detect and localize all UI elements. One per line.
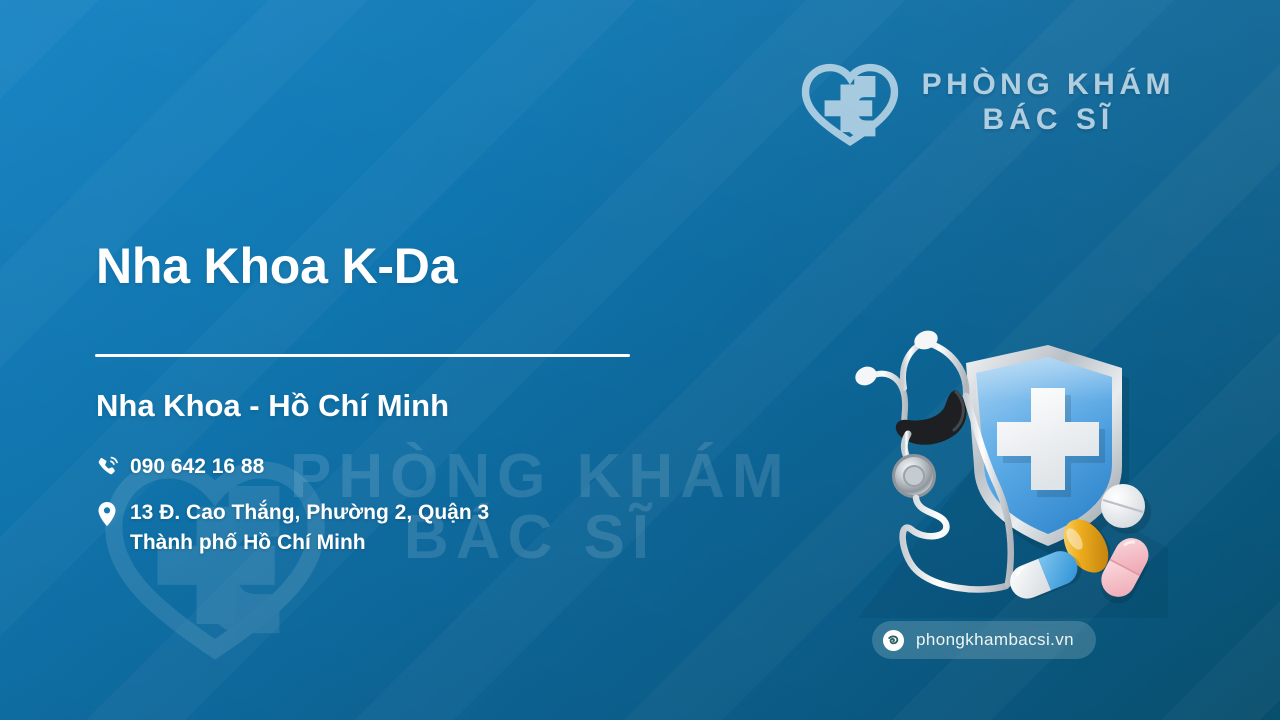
address: 13 Đ. Cao Thắng, Phường 2, Quận 3 Thành …: [130, 498, 489, 558]
heart-cross-logo-icon: [794, 58, 906, 148]
address-line-2: Thành phố Hồ Chí Minh: [130, 528, 489, 558]
map-pin-icon: [96, 498, 130, 527]
clinic-name: Nha Khoa K-Da: [96, 237, 457, 295]
clinic-category-location: Nha Khoa - Hồ Chí Minh: [96, 388, 449, 424]
brand-line-1: PHÒNG KHÁM: [922, 68, 1175, 101]
website-badge[interactable]: phongkhambacsi.vn: [872, 621, 1096, 659]
globe-icon: [882, 629, 905, 652]
phone-call-icon: [96, 452, 130, 479]
phone-number: 090 642 16 88: [130, 452, 264, 482]
brand-line-2: BÁC SĨ: [922, 105, 1175, 136]
website-url: phongkhambacsi.vn: [916, 630, 1074, 650]
address-row[interactable]: 13 Đ. Cao Thắng, Phường 2, Quận 3 Thành …: [96, 498, 716, 558]
contact-info: 090 642 16 88 13 Đ. Cao Thắng, Phường 2,…: [96, 452, 716, 573]
phone-row[interactable]: 090 642 16 88: [96, 452, 716, 482]
business-card-banner: PHÒNG KHÁM BÁC SĨ PHÒNG KHÁM BÁC SĨ Nha …: [0, 0, 1280, 720]
medical-shield-stethoscope-pills-illustration: [838, 318, 1178, 618]
address-line-1: 13 Đ. Cao Thắng, Phường 2, Quận 3: [130, 501, 489, 524]
brand-logo: PHÒNG KHÁM BÁC SĨ: [794, 58, 1175, 148]
brand-text: PHÒNG KHÁM BÁC SĨ: [922, 70, 1175, 135]
divider: [95, 354, 630, 357]
